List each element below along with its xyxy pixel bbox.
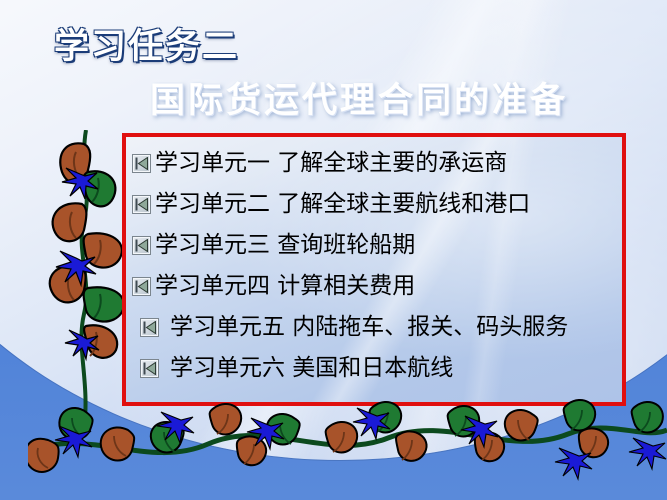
- list-item[interactable]: 学习单元四 计算相关费用: [132, 266, 622, 307]
- list-item-label: 学习单元三 查询班轮船期: [155, 234, 415, 257]
- list-item-label: 学习单元四 计算相关费用: [155, 275, 415, 298]
- list-item[interactable]: 学习单元二 了解全球主要航线和港口: [132, 184, 622, 225]
- skip-previous-icon: [132, 154, 151, 173]
- list-item[interactable]: 学习单元五 内陆拖车、报关、码头服务: [132, 307, 622, 348]
- skip-previous-icon: [132, 277, 151, 296]
- list-item-label: 学习单元二 了解全球主要航线和港口: [155, 193, 530, 216]
- list-item-label: 学习单元六 美国和日本航线: [170, 357, 453, 380]
- list-item[interactable]: 学习单元六 美国和日本航线: [132, 348, 622, 389]
- vine-ornament-left-icon: [36, 130, 136, 430]
- unit-list: 学习单元一 了解全球主要的承运商 学习单元二 了解全球主要航线和港口: [126, 137, 622, 389]
- skip-previous-icon: [140, 359, 159, 378]
- skip-previous-icon: [140, 318, 159, 337]
- page-title-primary: 学习任务二: [54, 18, 239, 69]
- list-item-label: 学习单元五 内陆拖车、报关、码头服务: [170, 316, 568, 339]
- skip-previous-icon: [132, 195, 151, 214]
- list-item[interactable]: 学习单元一 了解全球主要的承运商: [132, 143, 622, 184]
- vine-ornament-bottom-icon: [28, 396, 667, 500]
- slide-canvas: 学习任务二 国际货运代理合同的准备: [0, 0, 667, 500]
- page-title-secondary: 国际货运代理合同的准备: [150, 72, 568, 123]
- list-item-label: 学习单元一 了解全球主要的承运商: [155, 152, 507, 175]
- list-item[interactable]: 学习单元三 查询班轮船期: [132, 225, 622, 266]
- content-panel: 学习单元一 了解全球主要的承运商 学习单元二 了解全球主要航线和港口: [122, 133, 626, 406]
- skip-previous-icon: [132, 236, 151, 255]
